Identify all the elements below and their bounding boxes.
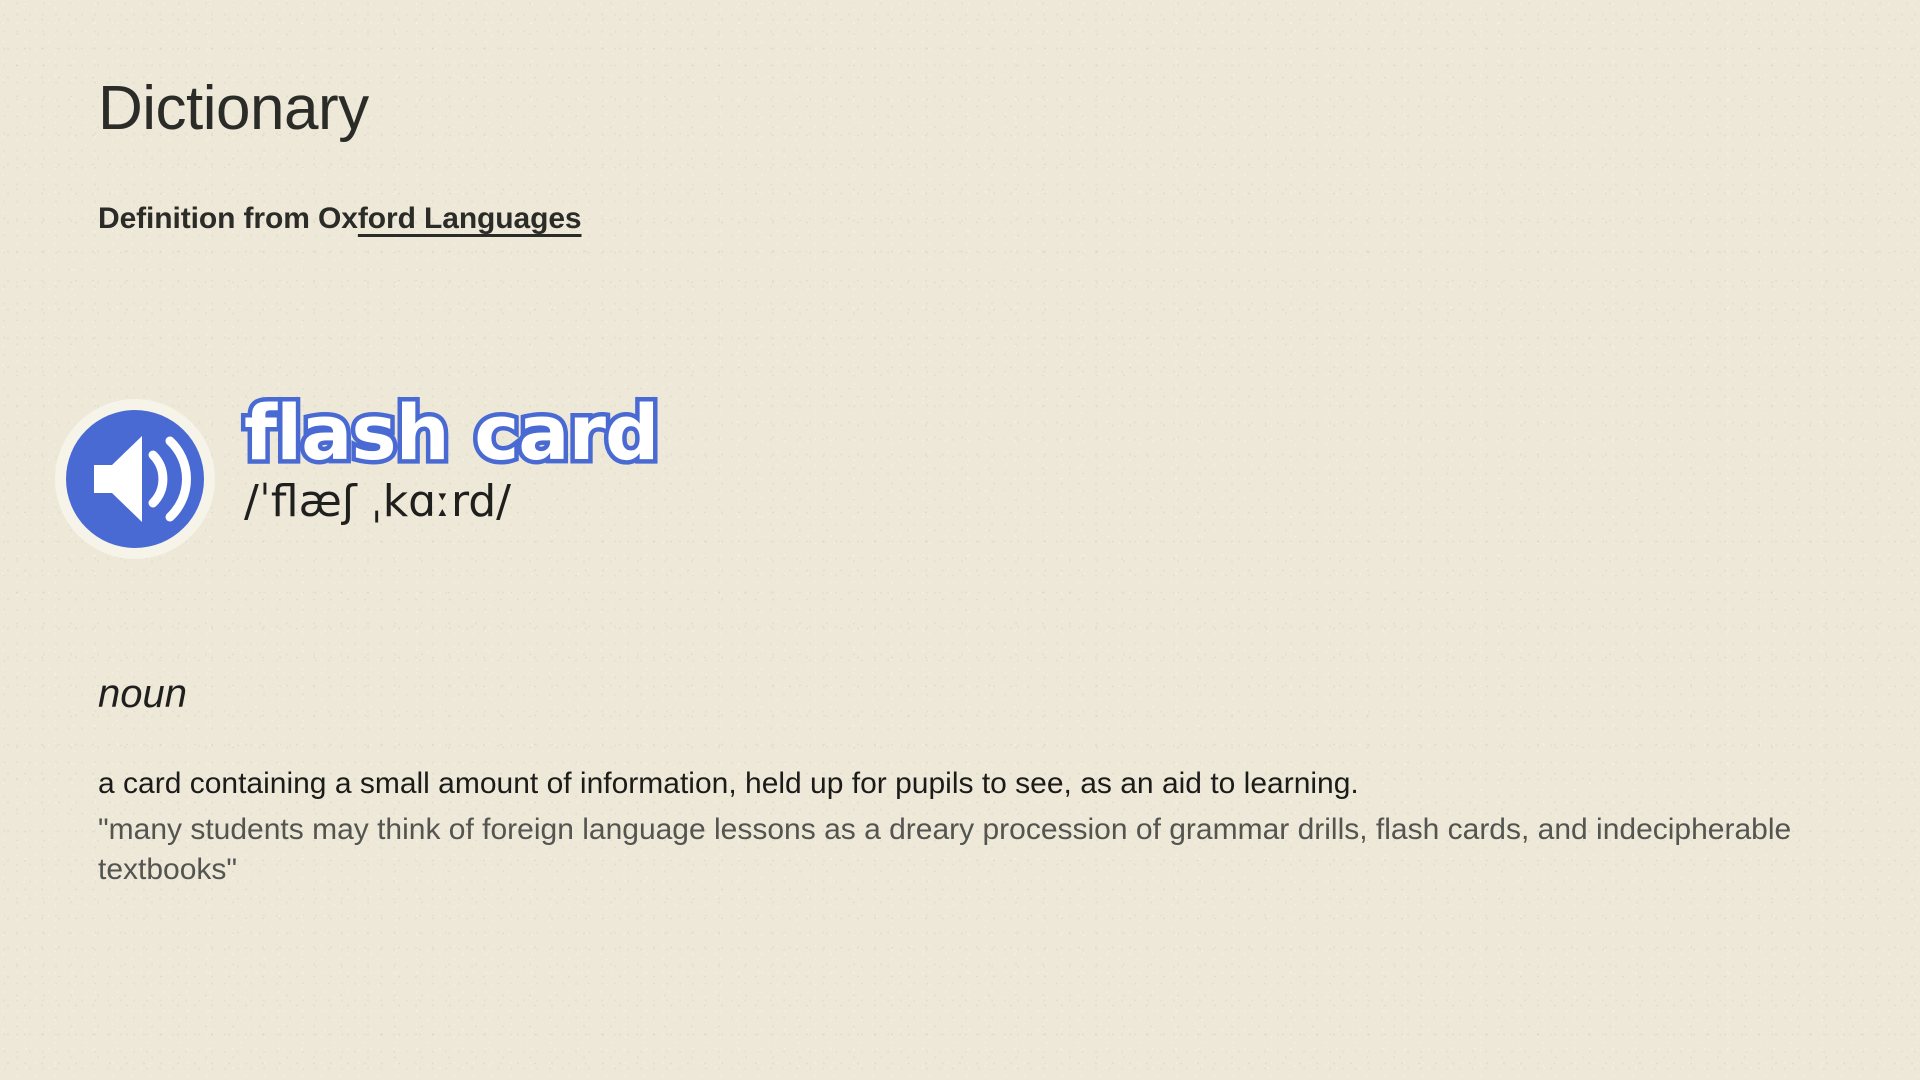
page-title: Dictionary [98,76,1498,141]
source-prefix-text: Definition from Ox [98,202,358,235]
oxford-languages-link[interactable]: ford Languages [358,202,582,235]
page-header: Dictionary Definition from Oxford Langua… [98,76,1498,141]
speaker-volume-icon[interactable] [50,394,220,564]
headword-row: flash card /ˈflæʃ ˌkɑːrd/ [50,392,658,564]
part-of-speech-label: noun [98,672,187,717]
definition-text: a card containing a small amount of info… [98,765,1838,803]
dictionary-page: Dictionary Definition from Oxford Langua… [0,0,1920,1080]
headword-block: flash card /ˈflæʃ ˌkɑːrd/ [244,392,658,527]
source-attribution: Definition from Oxford Languages [98,202,582,236]
phonetic-transcription: /ˈflæʃ ˌkɑːrd/ [244,476,658,527]
example-sentence: "many students may think of foreign lang… [98,810,1798,889]
headword-text: flash card [244,396,658,470]
